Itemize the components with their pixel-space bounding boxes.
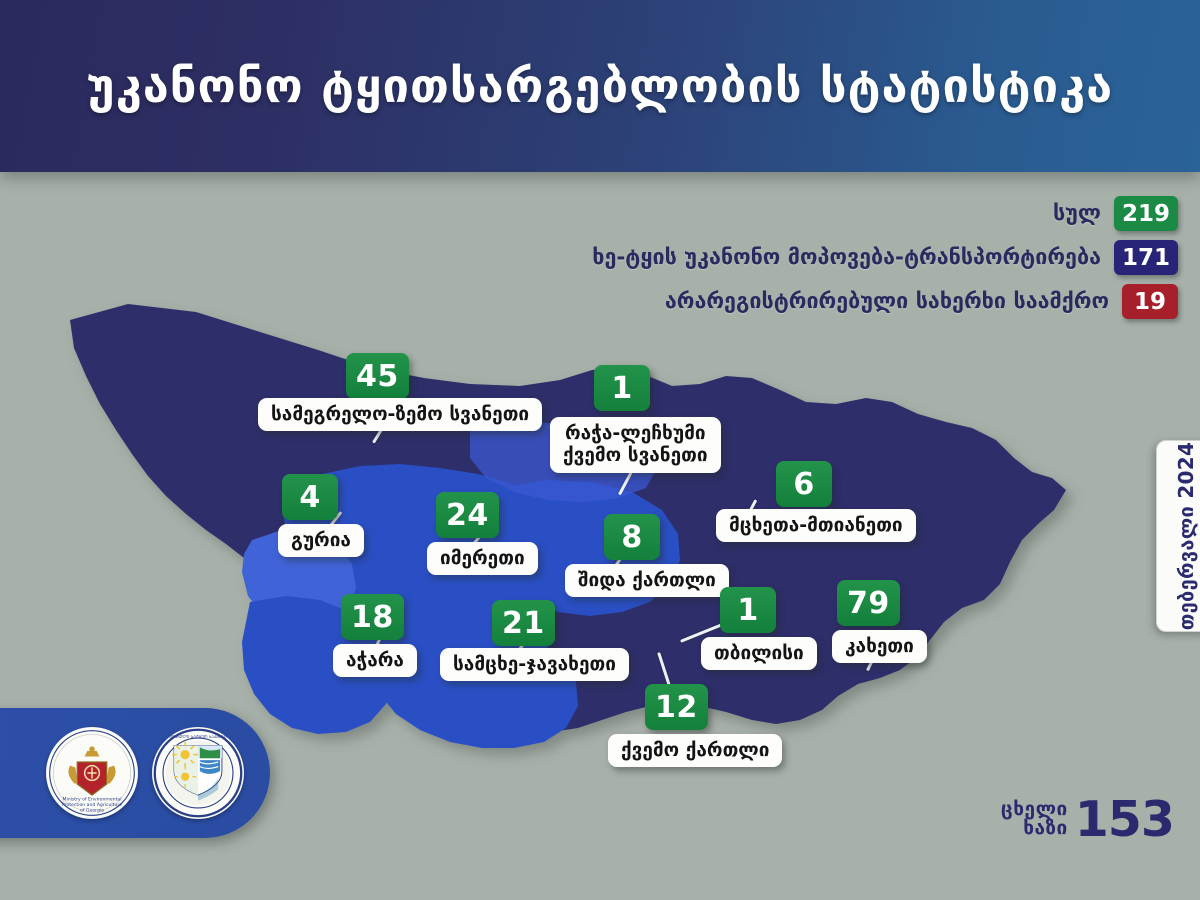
hotline-number: 153 — [1075, 797, 1174, 842]
region-name-label: მცხეთა-მთიანეთი — [716, 509, 916, 542]
date-card: თებერვალი 2024 — [1156, 440, 1200, 632]
forestry-agency-emblem-icon: ᲔᲠᲝᲕᲜᲣᲚᲘ ᲡᲐᲢᲧᲔᲝ ᲡᲐᲐᲒᲔᲜᲢᲝ — [152, 727, 244, 819]
national-emblem-georgia-icon: Ministry of Environmental Protection and… — [46, 727, 138, 819]
svg-text:of Georgia: of Georgia — [80, 808, 104, 814]
legend-label: სულ — [1053, 201, 1101, 226]
map-landmass — [70, 304, 1066, 748]
region-name-line1: რაჭა-ლეჩხუმი — [563, 422, 708, 444]
region-name-label: იმერეთი — [427, 542, 538, 575]
count-chip: 1 — [594, 365, 650, 411]
region-name-label: სამცხე-ჯავახეთი — [440, 648, 629, 681]
legend-value-badge: 171 — [1114, 240, 1178, 275]
svg-text:ᲔᲠᲝᲕᲜᲣᲚᲘ ᲡᲐᲢᲧᲔᲝ ᲡᲐᲐᲒᲔᲜᲢᲝ: ᲔᲠᲝᲕᲜᲣᲚᲘ ᲡᲐᲢᲧᲔᲝ ᲡᲐᲐᲒᲔᲜᲢᲝ — [165, 734, 231, 739]
legend-label: ხე-ტყის უკანონო მოპოვება-ტრანსპორტირება — [592, 245, 1101, 270]
legend-row-illegal-logging: ხე-ტყის უკანონო მოპოვება-ტრანსპორტირება … — [592, 240, 1178, 275]
emblem-left-svg: Ministry of Environmental Protection and… — [46, 727, 138, 819]
count-chip: 18 — [341, 594, 404, 640]
region-name-line2: ქვემო სვანეთი — [563, 444, 708, 466]
region-name-label: ქვემო ქართლი — [608, 734, 782, 767]
logo-bar: Ministry of Environmental Protection and… — [0, 708, 270, 838]
svg-text:Protection and Agriculture: Protection and Agriculture — [62, 802, 122, 808]
count-chip: 4 — [282, 474, 338, 520]
legend-label: არარეგისტრირებული სახერხი საამქრო — [665, 289, 1109, 314]
count-chip: 8 — [604, 514, 660, 560]
region-name-label: კახეთი — [832, 630, 927, 663]
hotline-label: ცხელი ხაზი — [1001, 800, 1068, 839]
hotline-line2: ხაზი — [1023, 819, 1068, 838]
count-chip: 24 — [436, 492, 499, 538]
count-chip: 6 — [776, 461, 832, 507]
count-chip: 1 — [720, 587, 776, 633]
region-name-label: აჭარა — [333, 644, 417, 677]
count-chip: 45 — [346, 353, 409, 399]
page-title: უკანონო ტყითსარგებლობის სტატისტიკა — [87, 59, 1113, 114]
legend-row-total: სულ 219 — [592, 196, 1178, 231]
region-name-label: სამეგრელო-ზემო სვანეთი — [258, 398, 542, 431]
region-name-label: რაჭა-ლეჩხუმი ქვემო სვანეთი — [550, 417, 721, 473]
legend: სულ 219 ხე-ტყის უკანონო მოპოვება-ტრანსპო… — [592, 196, 1178, 328]
infographic-canvas: უკანონო ტყითსარგებლობის სტატისტიკა — [0, 0, 1200, 900]
region-name-label: გურია — [278, 524, 364, 557]
region-name-label: თბილისი — [701, 637, 817, 670]
region-name-label: შიდა ქართლი — [565, 564, 729, 597]
count-chip: 12 — [645, 684, 708, 730]
header-banner: უკანონო ტყითსარგებლობის სტატისტიკა — [0, 0, 1200, 172]
count-chip: 21 — [492, 600, 555, 646]
legend-row-unregistered-sawmill: არარეგისტრირებული სახერხი საამქრო 19 — [592, 284, 1178, 319]
svg-text:Ministry of Environmental: Ministry of Environmental — [62, 797, 121, 803]
legend-value-badge: 219 — [1114, 196, 1178, 231]
hotline: ცხელი ხაზი 153 — [1001, 797, 1174, 842]
legend-value-badge: 19 — [1122, 284, 1178, 319]
date-label: თებერვალი 2024 — [1174, 442, 1198, 630]
emblem-right-svg: ᲔᲠᲝᲕᲜᲣᲚᲘ ᲡᲐᲢᲧᲔᲝ ᲡᲐᲐᲒᲔᲜᲢᲝ — [152, 727, 244, 819]
count-chip: 79 — [837, 580, 900, 626]
